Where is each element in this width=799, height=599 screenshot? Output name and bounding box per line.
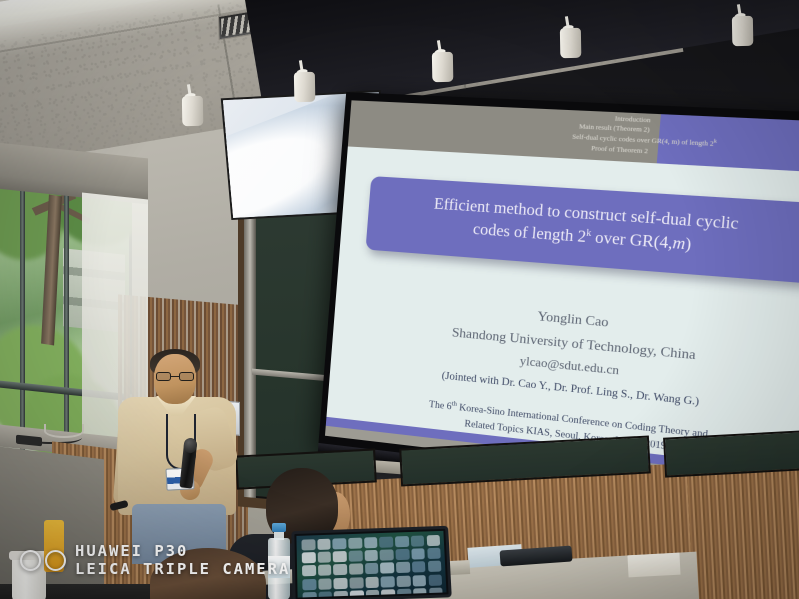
app-icon[interactable]	[333, 538, 347, 549]
app-icon[interactable]	[348, 538, 362, 549]
watermark-text: HUAWEI P30 LEICA TRIPLE CAMERA	[75, 543, 290, 578]
app-icon[interactable]	[333, 564, 347, 575]
app-icon[interactable]	[365, 576, 379, 587]
app-icon[interactable]	[379, 537, 393, 548]
app-icon[interactable]	[349, 577, 363, 588]
laptop-app-icon-grid[interactable]	[301, 535, 442, 593]
app-icon[interactable]	[334, 577, 348, 588]
watermark-brand: HUAWEI P30	[75, 543, 290, 561]
spotlight-housing	[182, 96, 204, 126]
app-icon[interactable]	[364, 537, 378, 548]
camera-watermark: HUAWEI P30 LEICA TRIPLE CAMERA	[20, 543, 290, 578]
glasses-lens-left	[156, 372, 171, 381]
slide-title-line2-a: codes of length 2	[472, 221, 587, 247]
app-icon[interactable]	[381, 576, 395, 587]
app-icon[interactable]	[427, 561, 441, 572]
presenter	[104, 352, 250, 552]
app-icon[interactable]	[395, 536, 409, 547]
app-icon[interactable]	[427, 548, 441, 559]
bottle-cap[interactable]	[272, 523, 286, 532]
watermark-camera: LEICA TRIPLE CAMERA	[75, 561, 290, 579]
lens-circle-right	[45, 550, 66, 571]
app-icon[interactable]	[426, 535, 440, 546]
app-icon[interactable]	[302, 552, 316, 563]
photograph: Th Organ Introduction Main result (Theor…	[0, 0, 799, 599]
cable-loop	[44, 424, 84, 438]
app-icon[interactable]	[349, 551, 363, 562]
glasses-lens-right	[179, 372, 194, 381]
app-icon[interactable]	[380, 563, 394, 574]
app-icon[interactable]	[412, 561, 426, 572]
app-icon[interactable]	[317, 552, 331, 563]
app-icon[interactable]	[380, 550, 394, 561]
app-icon[interactable]	[411, 535, 425, 546]
spotlight-housing	[294, 72, 316, 102]
back-chalkboard-far	[663, 430, 799, 477]
app-icon[interactable]	[302, 565, 316, 576]
app-icon[interactable]	[318, 578, 332, 589]
app-icon[interactable]	[364, 550, 378, 561]
slide-title-line2-c: )	[684, 236, 691, 255]
laptop-screen[interactable]	[296, 531, 446, 598]
lens-circle-left	[20, 550, 41, 571]
app-icon[interactable]	[411, 548, 425, 559]
slide-title-box: Efficient method to construct self-dual …	[366, 176, 799, 283]
spotlight-housing	[560, 28, 582, 58]
app-icon[interactable]	[317, 539, 331, 550]
laptop[interactable]	[291, 526, 451, 599]
glasses-bridge	[171, 376, 179, 378]
nav-superscript: k	[713, 139, 717, 146]
notebook[interactable]	[627, 553, 680, 578]
app-icon[interactable]	[412, 575, 426, 586]
app-icon[interactable]	[303, 592, 317, 598]
conference-prefix: The 6	[429, 400, 452, 413]
app-icon[interactable]	[428, 574, 442, 585]
spotlight-housing	[432, 52, 454, 82]
spotlight-housing	[732, 16, 754, 46]
app-icon[interactable]	[396, 549, 410, 560]
app-icon[interactable]	[333, 551, 347, 562]
app-icon[interactable]	[349, 564, 363, 575]
slide-title-line2-b: over GR(4,	[590, 229, 673, 253]
eyeglasses-icon	[156, 372, 194, 381]
presentation-slide: Introduction Main result (Theorem 2) Sel…	[326, 100, 799, 474]
app-icon[interactable]	[302, 578, 316, 589]
app-icon[interactable]	[397, 575, 411, 586]
app-icon[interactable]	[396, 562, 410, 573]
camera-lens-icon	[20, 550, 66, 571]
app-icon[interactable]	[318, 565, 332, 576]
app-icon[interactable]	[301, 539, 315, 550]
app-icon[interactable]	[365, 563, 379, 574]
